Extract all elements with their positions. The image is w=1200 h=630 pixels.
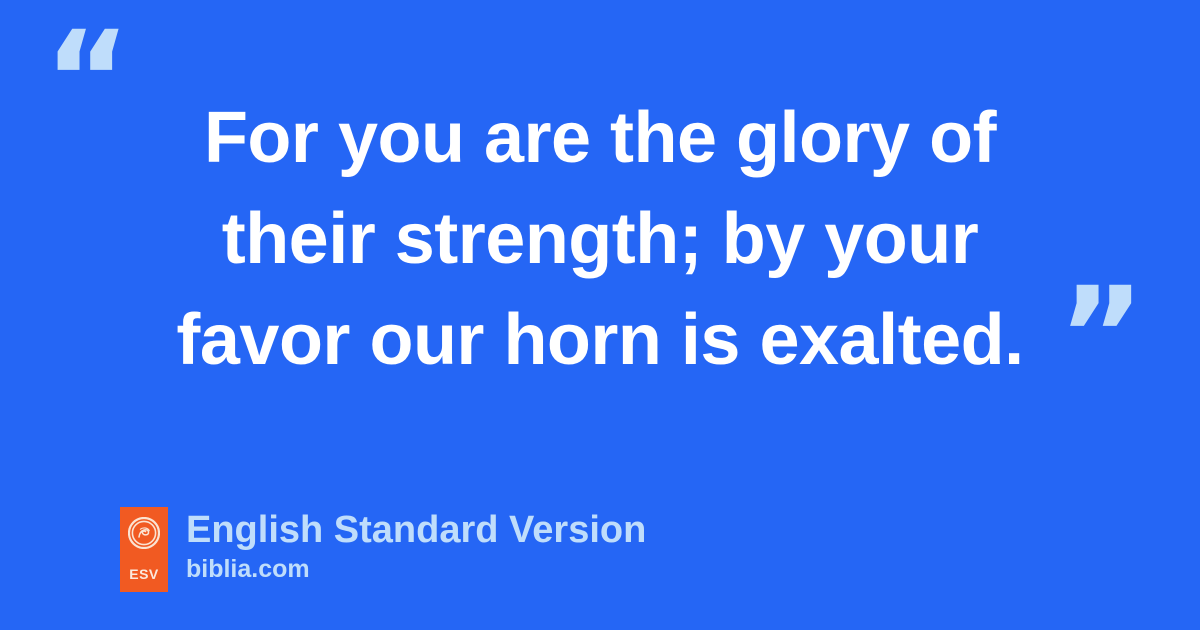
esv-logo: ESV [120,507,168,592]
attribution: ESV English Standard Version biblia.com [120,507,646,592]
verse-line-1: For you are the glory of [90,88,1110,189]
site-url[interactable]: biblia.com [186,554,646,584]
verse-image-card: “ For you are the glory of their strengt… [0,0,1200,630]
verse-text-block: For you are the glory of their strength;… [90,88,1110,391]
bible-version-name: English Standard Version [186,508,646,552]
esv-logo-label: ESV [129,566,159,582]
esv-seal-icon [128,517,160,549]
closing-quote-icon: ” [1058,270,1145,402]
attribution-text: English Standard Version biblia.com [186,507,646,584]
verse-line-2: their strength; by your [90,189,1110,290]
verse-line-3: favor our horn is exalted. [90,290,1110,391]
